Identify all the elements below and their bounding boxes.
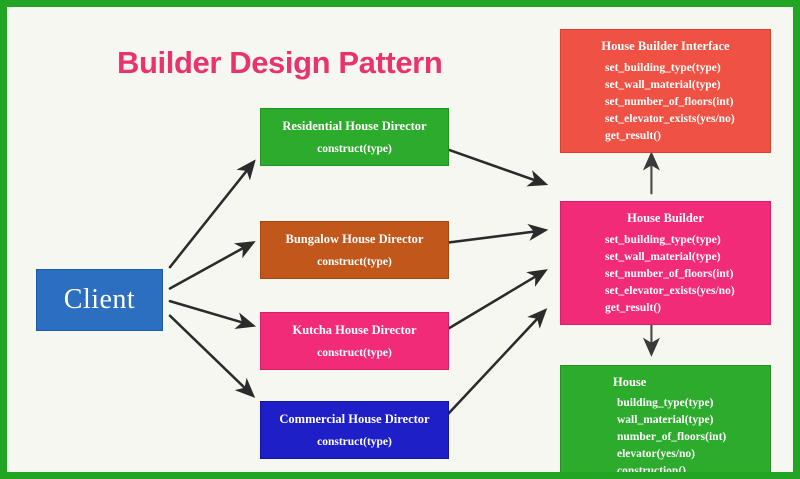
- client-label: Client: [64, 284, 135, 316]
- node-house[interactable]: House building_type(type) wall_material(…: [560, 365, 771, 479]
- node-client[interactable]: Client: [36, 269, 163, 331]
- house-attribute: elevator(yes/no): [617, 446, 770, 463]
- node-residential-house-director[interactable]: Residential House Director construct(typ…: [260, 108, 449, 166]
- house-attribute-list: building_type(type) wall_material(type) …: [561, 395, 770, 479]
- builder-title: House Builder: [561, 211, 770, 226]
- builder-method: set_elevator_exists(yes/no): [605, 283, 770, 300]
- builder-method: set_number_of_floors(int): [605, 266, 770, 283]
- house-attribute: building_type(type): [617, 395, 770, 412]
- arrow-client-to-bungalow: [170, 243, 253, 289]
- arrow-bungalow-to-builder: [446, 230, 545, 243]
- builder-method: get_result(): [605, 300, 770, 317]
- arrow-client-to-residential: [170, 162, 253, 267]
- builder-method: set_wall_material(type): [605, 249, 770, 266]
- node-house-builder-interface[interactable]: House Builder Interface set_building_typ…: [560, 29, 771, 153]
- house-attribute: number_of_floors(int): [617, 429, 770, 446]
- node-commercial-house-director[interactable]: Commercial House Director construct(type…: [260, 401, 449, 459]
- node-bungalow-house-director[interactable]: Bungalow House Director construct(type): [260, 221, 449, 279]
- node-kutcha-house-director[interactable]: Kutcha House Director construct(type): [260, 312, 449, 370]
- commercial-director-title: Commercial House Director: [279, 412, 429, 427]
- builder-method: set_building_type(type): [605, 232, 770, 249]
- bungalow-director-method: construct(type): [317, 256, 392, 268]
- diagram-canvas: Builder Design Pattern: [0, 0, 800, 479]
- interface-method-list: set_building_type(type) set_wall_materia…: [561, 60, 770, 145]
- kutcha-director-method: construct(type): [317, 347, 392, 359]
- arrow-client-to-commercial: [170, 316, 253, 396]
- residential-director-title: Residential House Director: [282, 119, 426, 134]
- house-title: House: [561, 375, 770, 390]
- arrow-commercial-to-builder: [446, 311, 545, 417]
- kutcha-director-title: Kutcha House Director: [292, 323, 416, 338]
- interface-method: set_wall_material(type): [605, 77, 770, 94]
- house-attribute: construction(): [617, 463, 770, 479]
- house-attribute: wall_material(type): [617, 412, 770, 429]
- arrow-kutcha-to-builder: [446, 271, 545, 330]
- arrow-client-to-kutcha: [170, 301, 253, 325]
- builder-method-list: set_building_type(type) set_wall_materia…: [561, 232, 770, 317]
- interface-method: set_elevator_exists(yes/no): [605, 111, 770, 128]
- page-title: Builder Design Pattern: [117, 45, 442, 81]
- arrow-residential-to-builder: [446, 149, 545, 184]
- node-house-builder[interactable]: House Builder set_building_type(type) se…: [560, 201, 771, 325]
- interface-title: House Builder Interface: [561, 39, 770, 54]
- residential-director-method: construct(type): [317, 143, 392, 155]
- commercial-director-method: construct(type): [317, 436, 392, 448]
- interface-method: set_building_type(type): [605, 60, 770, 77]
- interface-method: get_result(): [605, 128, 770, 145]
- interface-method: set_number_of_floors(int): [605, 94, 770, 111]
- bungalow-director-title: Bungalow House Director: [286, 232, 424, 247]
